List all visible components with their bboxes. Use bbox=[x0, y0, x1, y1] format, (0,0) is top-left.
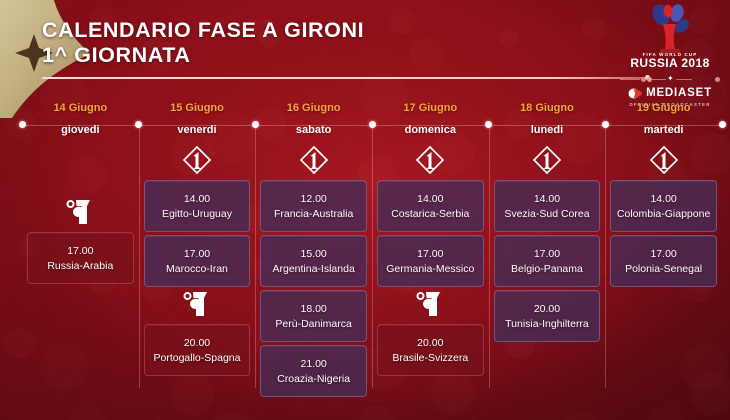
day-date: 18 Giugno bbox=[494, 102, 601, 115]
mediaset-logo: MEDIASET bbox=[618, 87, 722, 99]
match-time: 21.00 bbox=[301, 358, 327, 370]
match-card[interactable]: 17.00Marocco-Iran bbox=[144, 235, 251, 287]
day-slots: 14.00Colombia-Giappone17.00Polonia-Seneg… bbox=[610, 143, 717, 405]
match-time: 14.00 bbox=[417, 193, 443, 205]
day-weekday: sabato bbox=[260, 124, 367, 137]
separator-star-icon: ✦ bbox=[667, 75, 674, 83]
canale-5-channel-icon bbox=[180, 289, 214, 319]
match-card[interactable]: 14.00Costarica-Serbia bbox=[377, 180, 484, 232]
match-teams: Francia-Australia bbox=[274, 208, 353, 220]
match-card[interactable]: 15.00Argentina-Islanda bbox=[260, 235, 367, 287]
timeline-node bbox=[719, 121, 726, 128]
channel-badge-italia1 bbox=[260, 143, 367, 177]
slot-spacer bbox=[27, 143, 134, 195]
match-time: 15.00 bbox=[301, 248, 327, 260]
column-divider bbox=[605, 125, 606, 388]
match-time: 14.00 bbox=[534, 193, 560, 205]
match-card[interactable]: 20.00Brasile-Svizzera bbox=[377, 324, 484, 376]
match-teams: Tunisia-Inghilterra bbox=[505, 318, 589, 330]
italia-1-channel-icon bbox=[182, 145, 212, 175]
italia-1-channel-icon bbox=[532, 145, 562, 175]
day-weekday: giovedi bbox=[27, 124, 134, 137]
day-column: 15 Giugnovenerdi 14.00Egitto-Uruguay17.0… bbox=[139, 102, 256, 402]
mediaset-mark-icon bbox=[628, 88, 643, 99]
match-card[interactable]: 12.00Francia-Australia bbox=[260, 180, 367, 232]
day-date: 15 Giugno bbox=[144, 102, 251, 115]
match-time: 12.00 bbox=[301, 193, 327, 205]
match-card[interactable]: 21.00Croazia-Nigeria bbox=[260, 345, 367, 397]
column-divider bbox=[139, 125, 140, 388]
match-time: 14.00 bbox=[184, 193, 210, 205]
day-column: 17 Giugnodomenica 14.00Costarica-Serbia1… bbox=[372, 102, 489, 402]
match-card[interactable]: 17.00Germania-Messico bbox=[377, 235, 484, 287]
calendar-poster: CALENDARIO FASE A GIRONI 1^ GIORNATA FIF… bbox=[0, 0, 730, 420]
day-slots: 14.00Costarica-Serbia17.00Germania-Messi… bbox=[377, 143, 484, 405]
calendar-grid: 14 Giugnogiovedi 17.00Russia-Arabia15 Gi… bbox=[22, 102, 722, 402]
canale-5-channel-icon bbox=[63, 197, 97, 227]
day-column: 14 Giugnogiovedi 17.00Russia-Arabia bbox=[22, 102, 139, 402]
match-teams: Argentina-Islanda bbox=[272, 263, 354, 275]
channel-badge-italia1 bbox=[610, 143, 717, 177]
match-card[interactable]: 20.00Portogallo-Spagna bbox=[144, 324, 251, 376]
match-teams: Colombia-Giappone bbox=[617, 208, 710, 220]
channel-badge-canale5 bbox=[27, 195, 134, 229]
match-time: 20.00 bbox=[534, 303, 560, 315]
mediaset-wordmark: MEDIASET bbox=[646, 87, 712, 99]
day-date: 19 Giugno bbox=[610, 102, 717, 115]
match-time: 17.00 bbox=[184, 248, 210, 260]
column-divider bbox=[489, 125, 490, 388]
day-date: 17 Giugno bbox=[377, 102, 484, 115]
match-time: 17.00 bbox=[650, 248, 676, 260]
channel-badge-italia1 bbox=[144, 143, 251, 177]
match-card[interactable]: 17.00Russia-Arabia bbox=[27, 232, 134, 284]
title-divider-dot bbox=[645, 75, 650, 80]
day-slots: 14.00Egitto-Uruguay17.00Marocco-Iran 20.… bbox=[144, 143, 251, 405]
day-column: 18 Giugnolunedi 14.00Svezia-Sud Corea17.… bbox=[489, 102, 606, 402]
fifa-world-cup-trophy-icon bbox=[639, 2, 701, 54]
match-time: 20.00 bbox=[184, 337, 210, 349]
match-teams: Russia-Arabia bbox=[47, 260, 113, 272]
timeline-node bbox=[602, 121, 609, 128]
match-teams: Polonia-Senegal bbox=[625, 263, 702, 275]
day-slots: 17.00Russia-Arabia bbox=[27, 143, 134, 405]
day-column: 19 Giugnomartedi 14.00Colombia-Giappone1… bbox=[605, 102, 722, 402]
day-slots: 14.00Svezia-Sud Corea17.00Belgio-Panama2… bbox=[494, 143, 601, 405]
header: CALENDARIO FASE A GIRONI 1^ GIORNATA bbox=[42, 18, 642, 79]
channel-badge-canale5 bbox=[377, 287, 484, 321]
match-teams: Germania-Messico bbox=[386, 263, 474, 275]
italia-1-channel-icon bbox=[649, 145, 679, 175]
match-time: 17.00 bbox=[417, 248, 443, 260]
match-card[interactable]: 18.00Perù-Danimarca bbox=[260, 290, 367, 342]
day-weekday: lunedi bbox=[494, 124, 601, 137]
match-card[interactable]: 20.00Tunisia-Inghilterra bbox=[494, 290, 601, 342]
page-title-line2: 1^ GIORNATA bbox=[42, 43, 642, 68]
canale-5-channel-icon bbox=[413, 289, 447, 319]
match-teams: Belgio-Panama bbox=[511, 263, 583, 275]
match-card[interactable]: 17.00Polonia-Senegal bbox=[610, 235, 717, 287]
timeline-node bbox=[19, 121, 26, 128]
match-teams: Croazia-Nigeria bbox=[277, 373, 350, 385]
italia-1-channel-icon bbox=[415, 145, 445, 175]
channel-badge-italia1 bbox=[377, 143, 484, 177]
match-card[interactable]: 17.00Belgio-Panama bbox=[494, 235, 601, 287]
day-slots: 12.00Francia-Australia15.00Argentina-Isl… bbox=[260, 143, 367, 405]
channel-badge-italia1 bbox=[494, 143, 601, 177]
match-teams: Perù-Danimarca bbox=[275, 318, 351, 330]
match-teams: Marocco-Iran bbox=[166, 263, 228, 275]
column-divider bbox=[255, 125, 256, 388]
italia-1-channel-icon bbox=[299, 145, 329, 175]
match-time: 17.00 bbox=[67, 245, 93, 257]
match-time: 18.00 bbox=[301, 303, 327, 315]
match-teams: Brasile-Svizzera bbox=[392, 352, 468, 364]
match-time: 20.00 bbox=[417, 337, 443, 349]
channel-badge-canale5 bbox=[144, 287, 251, 321]
day-column: 16 Giugnosabato 12.00Francia-Australia15… bbox=[255, 102, 372, 402]
match-teams: Costarica-Serbia bbox=[391, 208, 469, 220]
column-divider bbox=[372, 125, 373, 388]
match-time: 14.00 bbox=[650, 193, 676, 205]
match-card[interactable]: 14.00Colombia-Giappone bbox=[610, 180, 717, 232]
day-weekday: venerdi bbox=[144, 124, 251, 137]
match-card[interactable]: 14.00Svezia-Sud Corea bbox=[494, 180, 601, 232]
match-card[interactable]: 14.00Egitto-Uruguay bbox=[144, 180, 251, 232]
match-teams: Egitto-Uruguay bbox=[162, 208, 232, 220]
match-time: 17.00 bbox=[534, 248, 560, 260]
match-teams: Portogallo-Spagna bbox=[153, 352, 240, 364]
title-divider bbox=[42, 77, 646, 79]
day-weekday: martedi bbox=[610, 124, 717, 137]
page-title-line1: CALENDARIO FASE A GIRONI bbox=[42, 18, 642, 43]
match-teams: Svezia-Sud Corea bbox=[504, 208, 589, 220]
day-weekday: domenica bbox=[377, 124, 484, 137]
day-date: 14 Giugno bbox=[27, 102, 134, 115]
day-date: 16 Giugno bbox=[260, 102, 367, 115]
timeline-node bbox=[369, 121, 376, 128]
timeline-node bbox=[252, 121, 259, 128]
